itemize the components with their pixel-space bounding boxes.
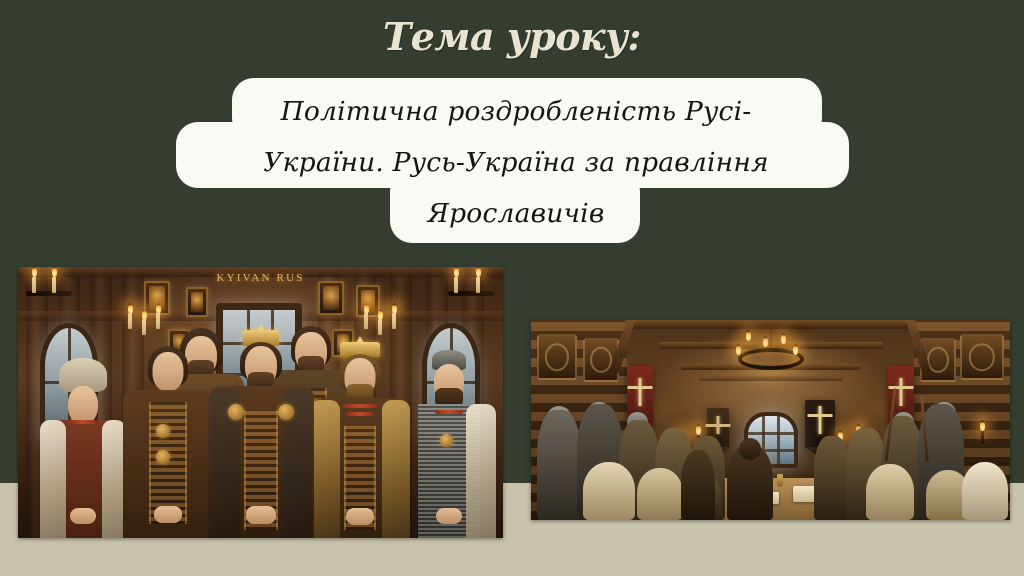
wall-icon-2	[186, 287, 208, 317]
goblet-2	[777, 474, 783, 487]
fur-figure-left-1	[583, 462, 635, 520]
prince-2-patterned-robe	[122, 346, 214, 538]
page-title: Тема уроку:	[0, 14, 1024, 59]
wall-carving-3	[960, 334, 1004, 380]
fur-figure-left-2	[637, 468, 683, 520]
wall-icon-3	[318, 281, 344, 315]
prince-1-fur-hat	[40, 358, 126, 538]
prince-4-crowned-fur-mantle	[310, 342, 410, 538]
prince-5-chainmail-warrior	[404, 350, 494, 538]
council-figure-1	[537, 410, 581, 520]
council-leader-head	[739, 438, 761, 460]
council-figure-6	[681, 450, 715, 520]
left-scene: KYIVAN RUS	[18, 267, 503, 538]
fur-figure-right-3	[962, 462, 1008, 520]
image-princes-of-kyivan-rus: KYIVAN RUS	[18, 267, 503, 538]
right-scene	[531, 320, 1010, 520]
title-banner: Політична роздробленість Русі- України. …	[176, 78, 856, 246]
banner-line-2: України. Русь-Україна за правління	[263, 137, 768, 188]
fur-figure-right-1	[866, 464, 914, 520]
wall-carving-1	[537, 334, 577, 380]
image-caption-kyivan-rus: KYIVAN RUS	[18, 272, 503, 284]
council-figure-7	[814, 436, 850, 520]
banner-line-1: Політична роздробленість Русі-	[281, 86, 752, 137]
banner-text-block: Політична роздробленість Русі- України. …	[176, 78, 856, 246]
prince-3-grand-prince-crowned	[206, 330, 316, 538]
image-council-in-longhouse	[531, 320, 1010, 520]
banner-line-3: Ярославичів	[428, 188, 605, 239]
